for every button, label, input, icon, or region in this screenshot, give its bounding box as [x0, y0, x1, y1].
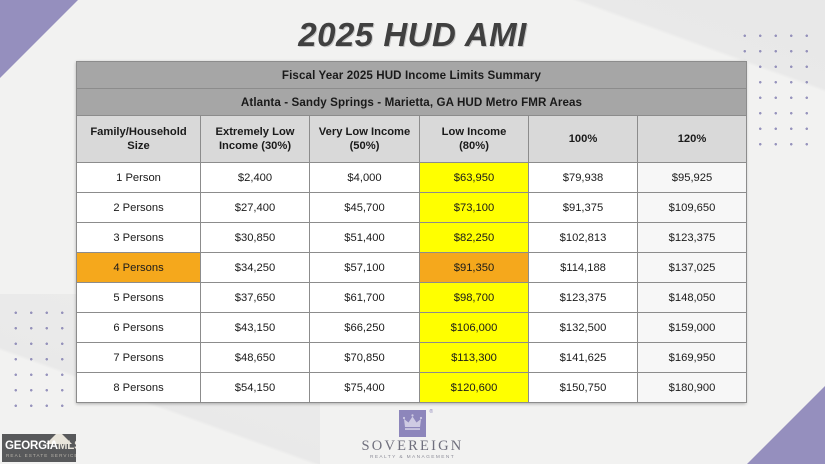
- cell-100: $132,500: [529, 313, 638, 343]
- cell-120: $159,000: [638, 313, 747, 343]
- cell-size: 1 Person: [77, 163, 201, 193]
- cell-eli30: $27,400: [201, 193, 310, 223]
- cell-vli50: $75,400: [310, 373, 420, 403]
- column-header-120: 120%: [638, 116, 747, 163]
- cell-eli30: $2,400: [201, 163, 310, 193]
- cell-vli50: $4,000: [310, 163, 420, 193]
- cell-vli50: $70,850: [310, 343, 420, 373]
- cell-vli50: $45,700: [310, 193, 420, 223]
- cell-120: $148,050: [638, 283, 747, 313]
- cell-li80: $91,350: [420, 253, 529, 283]
- table-row: 7 Persons $48,650 $70,850 $113,300 $141,…: [77, 343, 747, 373]
- cell-120: $123,375: [638, 223, 747, 253]
- cell-120: $95,925: [638, 163, 747, 193]
- cell-li80: $106,000: [420, 313, 529, 343]
- cell-100: $102,813: [529, 223, 638, 253]
- cell-eli30: $54,150: [201, 373, 310, 403]
- crown-badge-icon: ®: [399, 410, 426, 437]
- table-row: 8 Persons $54,150 $75,400 $120,600 $150,…: [77, 373, 747, 403]
- cell-100: $123,375: [529, 283, 638, 313]
- cell-size: 8 Persons: [77, 373, 201, 403]
- table-row: 1 Person $2,400 $4,000 $63,950 $79,938 $…: [77, 163, 747, 193]
- cell-li80: $120,600: [420, 373, 529, 403]
- cell-120: $137,025: [638, 253, 747, 283]
- table-band-title: Fiscal Year 2025 HUD Income Limits Summa…: [77, 62, 747, 89]
- cell-li80: $113,300: [420, 343, 529, 373]
- sovereign-logo: ® SOVEREIGN REALTY & MANAGEMENT: [353, 410, 473, 460]
- column-header-size: Family/Household Size: [77, 116, 201, 163]
- sovereign-tagline: REALTY & MANAGEMENT: [353, 455, 473, 460]
- table-header-row: Family/Household Size Extremely Low Inco…: [77, 116, 747, 163]
- table-row: 6 Persons $43,150 $66,250 $106,000 $132,…: [77, 313, 747, 343]
- crown-icon: [399, 410, 426, 437]
- cell-eli30: $34,250: [201, 253, 310, 283]
- column-header-vli50: Very Low Income (50%): [310, 116, 420, 163]
- cell-eli30: $43,150: [201, 313, 310, 343]
- purple-triangle-bottom-right: [747, 386, 825, 464]
- cell-eli30: $37,650: [201, 283, 310, 313]
- georgia-mls-tagline: REAL ESTATE SERVICES: [6, 453, 76, 458]
- cell-100: $114,188: [529, 253, 638, 283]
- cell-vli50: $61,700: [310, 283, 420, 313]
- table-row: 3 Persons $30,850 $51,400 $82,250 $102,8…: [77, 223, 747, 253]
- cell-li80: $82,250: [420, 223, 529, 253]
- cell-eli30: $48,650: [201, 343, 310, 373]
- cell-li80: $63,950: [420, 163, 529, 193]
- column-header-100: 100%: [529, 116, 638, 163]
- column-header-li80: Low Income (80%): [420, 116, 529, 163]
- registered-trademark-icon: ®: [429, 409, 433, 415]
- cell-size: 4 Persons: [77, 253, 201, 283]
- cell-li80: $98,700: [420, 283, 529, 313]
- table-band-title-row: Fiscal Year 2025 HUD Income Limits Summa…: [77, 62, 747, 89]
- sovereign-wordmark: SOVEREIGN: [353, 439, 473, 454]
- ami-table-container: Fiscal Year 2025 HUD Income Limits Summa…: [76, 61, 746, 403]
- table-band-area-row: Atlanta - Sandy Springs - Marietta, GA H…: [77, 89, 747, 116]
- georgia-mls-logo: GEORGIAMLS REAL ESTATE SERVICES: [2, 434, 76, 462]
- cell-100: $141,625: [529, 343, 638, 373]
- cell-size: 2 Persons: [77, 193, 201, 223]
- table-row-highlighted: 4 Persons $34,250 $57,100 $91,350 $114,1…: [77, 253, 747, 283]
- column-header-eli30: Extremely Low Income (30%): [201, 116, 310, 163]
- table-row: 2 Persons $27,400 $45,700 $73,100 $91,37…: [77, 193, 747, 223]
- cell-vli50: $51,400: [310, 223, 420, 253]
- ami-table: Fiscal Year 2025 HUD Income Limits Summa…: [76, 61, 747, 403]
- cell-li80: $73,100: [420, 193, 529, 223]
- cell-120: $109,650: [638, 193, 747, 223]
- cell-100: $150,750: [529, 373, 638, 403]
- cell-size: 6 Persons: [77, 313, 201, 343]
- cell-100: $79,938: [529, 163, 638, 193]
- cell-120: $169,950: [638, 343, 747, 373]
- dot-grid-left: [8, 305, 72, 409]
- cell-vli50: $66,250: [310, 313, 420, 343]
- cell-size: 7 Persons: [77, 343, 201, 373]
- cell-vli50: $57,100: [310, 253, 420, 283]
- georgia-mls-georgia: GEORGIA: [5, 440, 58, 452]
- georgia-mls-wordmark: GEORGIAMLS: [5, 440, 76, 452]
- cell-size: 5 Persons: [77, 283, 201, 313]
- table-band-area: Atlanta - Sandy Springs - Marietta, GA H…: [77, 89, 747, 116]
- cell-eli30: $30,850: [201, 223, 310, 253]
- cell-100: $91,375: [529, 193, 638, 223]
- cell-size: 3 Persons: [77, 223, 201, 253]
- georgia-mls-mls: MLS: [58, 440, 76, 452]
- cell-120: $180,900: [638, 373, 747, 403]
- page-title: 2025 HUD AMI: [0, 16, 825, 54]
- table-row: 5 Persons $37,650 $61,700 $98,700 $123,3…: [77, 283, 747, 313]
